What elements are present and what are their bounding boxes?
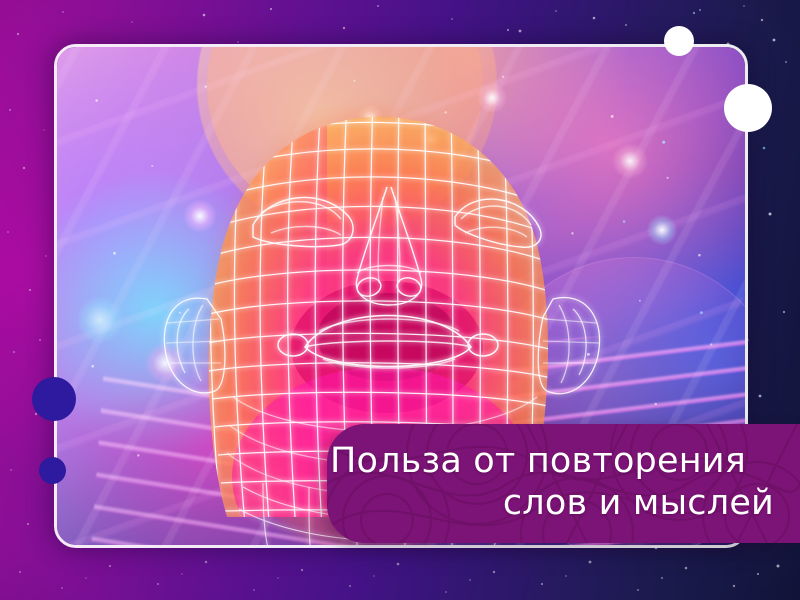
white-circle-large [724, 84, 772, 132]
banner-line-1: Польза от повторения [330, 441, 746, 482]
poster-canvas: Польза от повторения слов и мыслей [0, 0, 800, 600]
indigo-circle-small [39, 457, 66, 484]
banner-line-2: слов и мыслей [503, 483, 774, 524]
title-banner: Польза от повторения слов и мыслей [327, 424, 800, 543]
banner-text-block: Польза от повторения слов и мыслей [327, 424, 800, 543]
indigo-circle-large [32, 377, 76, 421]
white-circle-small [664, 26, 694, 56]
